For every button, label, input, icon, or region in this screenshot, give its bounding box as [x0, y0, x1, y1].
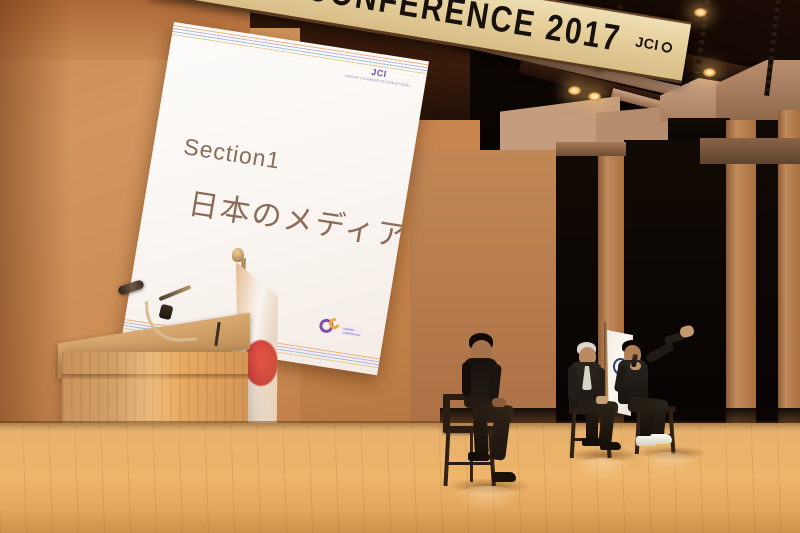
- wall-ledge: [700, 138, 800, 164]
- speaker-shoe: [492, 472, 516, 482]
- floor-edge-shadow: [0, 421, 800, 431]
- wooden-stage-floor: [0, 423, 800, 533]
- wall-ledge: [556, 142, 626, 156]
- jci-logo-text: JCI: [634, 34, 660, 54]
- speaker-white-sneaker: [636, 436, 657, 446]
- speaker-lower-leg: [473, 418, 489, 457]
- logo-wordmark: SUMMER CONFERENCE: [341, 327, 362, 337]
- slide-conference-logo: SUMMER CONFERENCE: [318, 316, 363, 338]
- jci-ring-icon: [661, 41, 673, 53]
- speaker-hand: [492, 398, 506, 407]
- slide-title: 日本のメディアと政治: [185, 179, 429, 271]
- floor-reflection: [572, 458, 632, 480]
- stool-footrest: [447, 462, 491, 465]
- speaker-arm: [462, 362, 471, 396]
- stage-pillar: [726, 120, 756, 450]
- speaker-hand: [596, 396, 608, 404]
- speaker-shoe: [468, 452, 490, 461]
- flag-finial-icon: [232, 248, 245, 263]
- stage-spotlight: [703, 68, 716, 77]
- stage-photograph: SUMMER CONFERENCE 2017 JCI JCI JUNIOR CH…: [0, 0, 800, 533]
- stage-wing-recess: [756, 120, 778, 450]
- jci-logo-banner: JCI: [634, 34, 673, 56]
- floor-reflection: [452, 486, 522, 512]
- floor-reflection: [640, 452, 698, 474]
- wall-shadow-gradient: [0, 0, 70, 470]
- stage-spotlight: [568, 86, 581, 95]
- stage-spotlight: [588, 92, 601, 101]
- slide-section-label: Section1: [182, 133, 283, 175]
- floor-reflection-sheen: [0, 423, 800, 533]
- stage-spotlight: [694, 8, 707, 17]
- speaker-arm: [568, 366, 577, 400]
- speaker-shoe: [582, 438, 602, 446]
- speaker-shoe: [600, 442, 621, 450]
